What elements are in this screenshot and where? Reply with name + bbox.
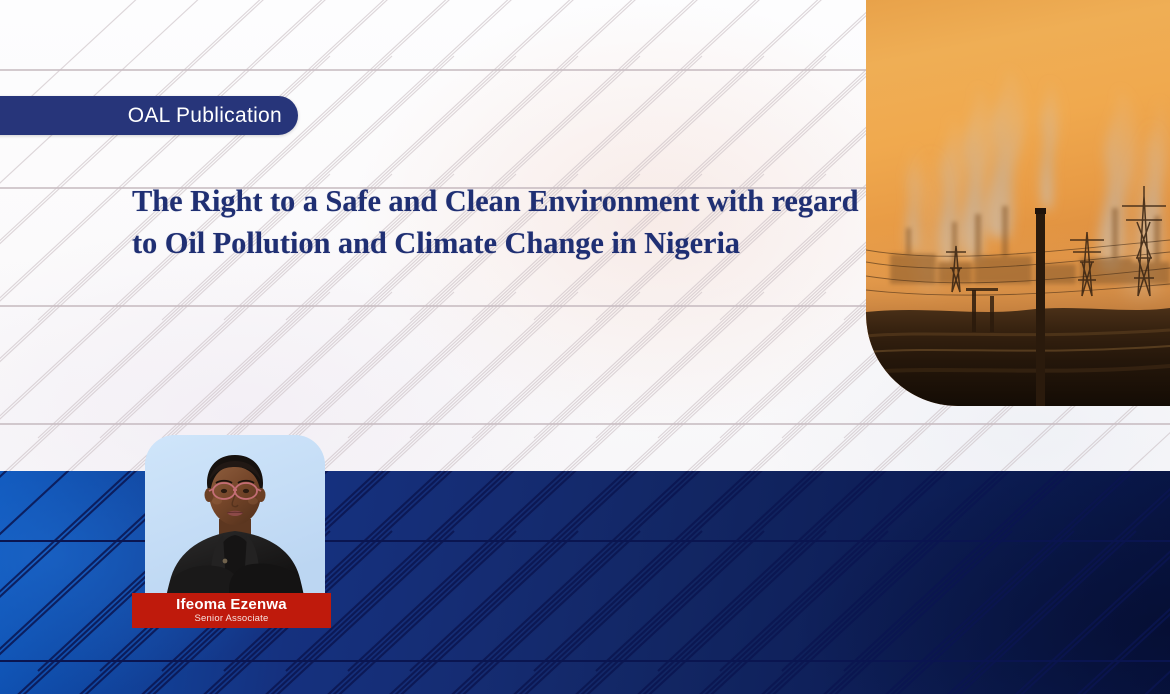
oal-publication-badge-label: OAL Publication xyxy=(128,104,282,128)
avatar xyxy=(145,435,325,602)
oal-publication-badge[interactable]: OAL Publication xyxy=(0,96,298,135)
author-portrait-card xyxy=(145,435,325,602)
industrial-pollution-photo xyxy=(866,0,1170,406)
publication-banner: OAL Publication The Right to a Safe and … xyxy=(0,0,1170,694)
author-name: Ifeoma Ezenwa xyxy=(176,597,287,613)
author-nameplate: Ifeoma Ezenwa Senior Associate xyxy=(132,593,331,628)
page-title: The Right to a Safe and Clean Environmen… xyxy=(132,180,862,264)
author-role: Senior Associate xyxy=(195,613,269,625)
pollution-illustration xyxy=(866,0,1170,406)
